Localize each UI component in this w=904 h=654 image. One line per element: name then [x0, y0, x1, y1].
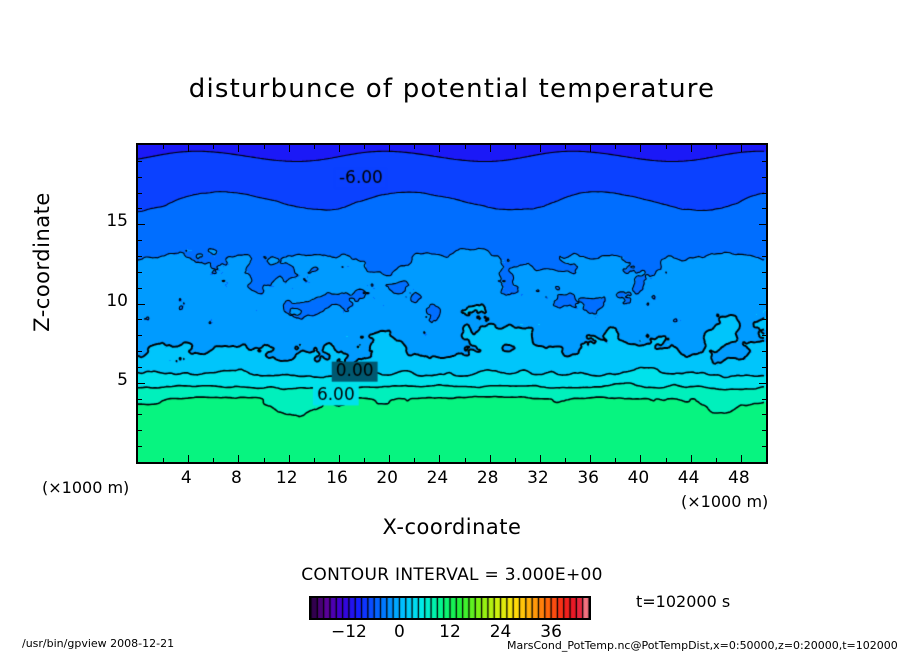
- x-axis-tick: [615, 458, 616, 462]
- x-axis-tick: [238, 455, 239, 462]
- x-axis-tick: [691, 455, 692, 462]
- y-axis-tick: [138, 335, 142, 336]
- y-axis-tick: [138, 208, 142, 209]
- x-axis-tick: [414, 458, 415, 462]
- y-axis-tick: [138, 383, 145, 384]
- x-axis-tick: [188, 455, 189, 462]
- x-axis-tick: [465, 145, 466, 149]
- x-axis-tick: [640, 455, 641, 462]
- y-axis-tick: [762, 446, 766, 447]
- y-axis-tick: [762, 430, 766, 431]
- y-axis-tick: [762, 367, 766, 368]
- y-axis-tick: [138, 240, 142, 241]
- y-axis-tick: [762, 351, 766, 352]
- x-axis-tick: [163, 145, 164, 149]
- x-axis-tick: [766, 458, 767, 462]
- x-axis-tick: [565, 145, 566, 149]
- x-axis-tick-label: 36: [568, 468, 608, 488]
- x-axis-tick: [314, 145, 315, 149]
- y-axis-tick: [138, 304, 145, 305]
- x-axis-tick: [540, 455, 541, 462]
- x-axis-tick: [640, 145, 641, 152]
- y-axis-tick: [138, 224, 145, 225]
- y-axis-tick-label: 5: [88, 370, 128, 390]
- y-axis-tick: [138, 193, 142, 194]
- time-annotation: t=102000 s: [636, 592, 730, 611]
- y-axis-tick-label: 10: [88, 291, 128, 311]
- x-axis-tick: [741, 145, 742, 152]
- y-axis-tick: [138, 430, 142, 431]
- x-axis-tick-label: 8: [216, 468, 256, 488]
- x-axis-tick: [213, 458, 214, 462]
- x-axis-tick: [590, 145, 591, 152]
- x-axis-tick: [364, 145, 365, 149]
- colorbar-gradient: [311, 598, 589, 618]
- x-axis-title: X-coordinate: [0, 515, 904, 539]
- x-axis-tick-label: 40: [618, 468, 658, 488]
- x-axis-tick: [590, 455, 591, 462]
- colorbar-tick-label: 24: [479, 622, 523, 642]
- x-axis-tick: [465, 458, 466, 462]
- x-axis-tick: [741, 455, 742, 462]
- y-axis-tick: [762, 161, 766, 162]
- y-axis-tick: [138, 414, 142, 415]
- colorbar: [309, 596, 591, 620]
- x-axis-tick: [238, 145, 239, 152]
- y-axis-tick: [138, 399, 142, 400]
- x-axis-tick: [490, 455, 491, 462]
- x-axis-tick-label: 12: [267, 468, 307, 488]
- x-axis-tick-label: 16: [317, 468, 357, 488]
- x-axis-tick: [439, 455, 440, 462]
- x-axis-tick: [615, 145, 616, 149]
- y-axis-tick: [762, 177, 766, 178]
- y-axis-tick: [762, 414, 766, 415]
- x-axis-tick: [766, 145, 767, 149]
- x-axis-tick: [540, 145, 541, 152]
- x-axis-tick: [188, 145, 189, 152]
- x-unit-label-right: (×1000 m): [681, 492, 768, 511]
- x-axis-tick: [289, 455, 290, 462]
- x-axis-tick: [515, 458, 516, 462]
- y-axis-tick: [762, 399, 766, 400]
- y-axis-tick: [138, 161, 142, 162]
- y-axis-tick: [138, 256, 142, 257]
- x-axis-tick: [666, 458, 667, 462]
- contour-plot-frame: [136, 143, 768, 464]
- x-axis-tick: [289, 145, 290, 152]
- y-axis-tick: [138, 367, 142, 368]
- x-axis-tick: [490, 145, 491, 152]
- colorbar-tick-label: 0: [377, 622, 421, 642]
- y-axis-tick: [762, 256, 766, 257]
- x-axis-tick: [364, 458, 365, 462]
- x-axis-tick-label: 48: [719, 468, 759, 488]
- x-axis-tick-label: 4: [166, 468, 206, 488]
- x-axis-tick: [163, 458, 164, 462]
- contour-interval-caption: CONTOUR INTERVAL = 3.000E+00: [0, 565, 904, 585]
- x-axis-tick-label: 44: [669, 468, 709, 488]
- x-axis-tick: [339, 455, 340, 462]
- y-axis-tick: [759, 224, 766, 225]
- x-axis-tick: [691, 145, 692, 152]
- y-axis-tick: [762, 240, 766, 241]
- y-axis-tick: [138, 351, 142, 352]
- colorbar-tick-label: 12: [428, 622, 472, 642]
- y-axis-tick: [762, 193, 766, 194]
- x-axis-tick: [716, 458, 717, 462]
- x-axis-tick: [213, 145, 214, 149]
- x-axis-tick-label: 20: [367, 468, 407, 488]
- y-axis-title: Z-coordinate: [30, 162, 54, 362]
- y-axis-tick: [138, 319, 142, 320]
- x-axis-tick: [314, 458, 315, 462]
- y-axis-tick: [762, 288, 766, 289]
- x-axis-tick: [515, 145, 516, 149]
- y-axis-tick: [759, 383, 766, 384]
- y-axis-tick: [762, 335, 766, 336]
- footer-command-info: /usr/bin/gpview 2008-12-21: [22, 637, 174, 650]
- y-axis-tick: [762, 319, 766, 320]
- y-axis-tick: [138, 446, 142, 447]
- x-axis-tick: [565, 458, 566, 462]
- colorbar-tick-label: 36: [529, 622, 573, 642]
- x-axis-tick-label: 28: [468, 468, 508, 488]
- page-title: disturbunce of potential temperature: [0, 74, 904, 104]
- x-axis-tick: [439, 145, 440, 152]
- y-axis-tick: [762, 208, 766, 209]
- x-axis-tick: [339, 145, 340, 152]
- x-axis-tick: [264, 458, 265, 462]
- x-axis-tick: [389, 455, 390, 462]
- x-unit-label-left: (×1000 m): [42, 478, 129, 497]
- x-axis-tick: [716, 145, 717, 149]
- x-axis-tick: [264, 145, 265, 149]
- x-axis-tick-label: 32: [518, 468, 558, 488]
- x-axis-tick-label: 24: [417, 468, 457, 488]
- x-axis-tick: [666, 145, 667, 149]
- y-axis-tick: [138, 272, 142, 273]
- colorbar-tick-label: −12: [327, 622, 371, 642]
- y-axis-tick-label: 15: [88, 211, 128, 231]
- y-axis-tick: [138, 288, 142, 289]
- x-axis-tick: [414, 145, 415, 149]
- y-axis-tick: [762, 272, 766, 273]
- y-axis-tick: [759, 304, 766, 305]
- temperature-field-plot: [138, 145, 766, 462]
- y-axis-tick: [138, 177, 142, 178]
- x-axis-tick: [389, 145, 390, 152]
